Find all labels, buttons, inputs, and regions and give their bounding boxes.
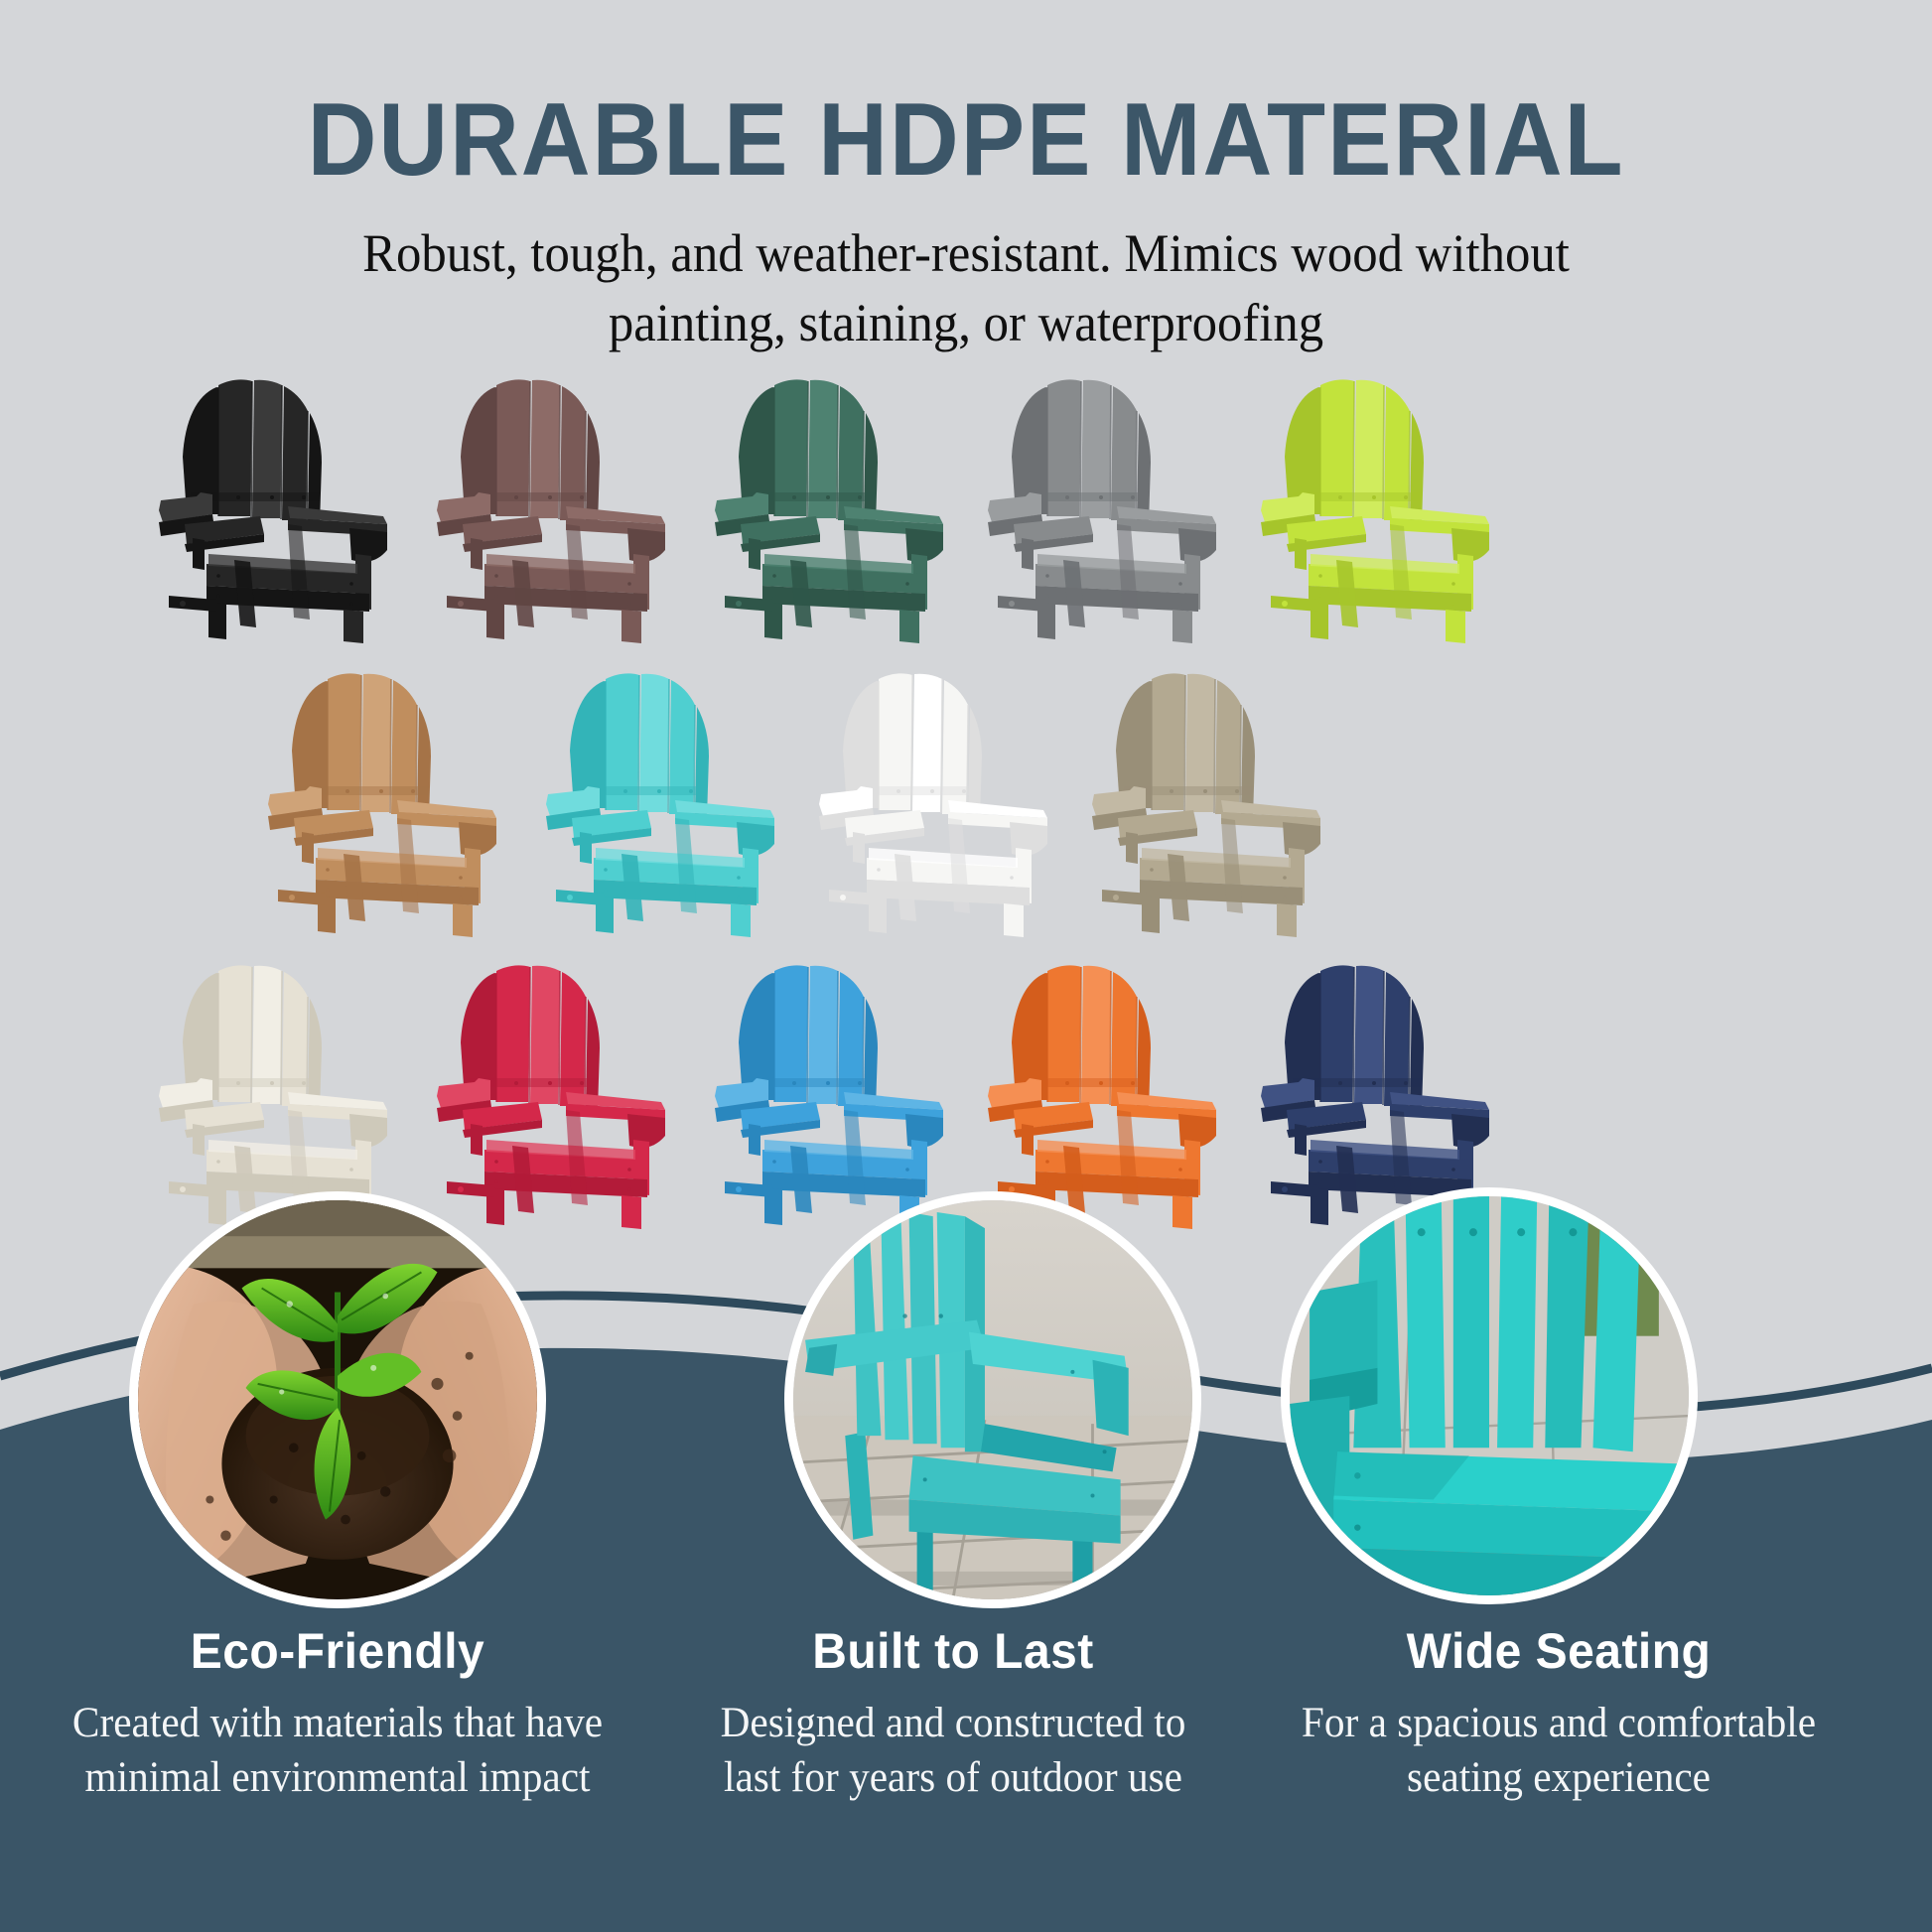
chair-swatch-red[interactable] — [417, 951, 715, 1229]
hands-holding-seedling-icon — [138, 1200, 537, 1599]
feature-heading-1: Eco-Friendly — [52, 1622, 623, 1680]
adirondack-chair-icon — [799, 659, 1097, 937]
feature-captions: Eco-Friendly Created with materials that… — [0, 1622, 1932, 1932]
chair-color-grid — [0, 365, 1932, 1259]
infographic-page: DURABLE HDPE MATERIAL Robust, tough, and… — [0, 0, 1932, 1932]
adirondack-chair-icon — [968, 365, 1266, 643]
feature-body-2-line-1: Designed and constructed to — [721, 1700, 1186, 1746]
adirondack-chair-icon — [526, 659, 824, 937]
adirondack-chair-icon — [968, 951, 1266, 1229]
chair-swatch-black[interactable] — [139, 365, 437, 643]
feature-heading-2: Built to Last — [667, 1622, 1239, 1680]
chair-swatch-khaki-taupe[interactable] — [1072, 659, 1370, 937]
chair-swatch-gray[interactable] — [968, 365, 1266, 643]
subtitle-line-1: Robust, tough, and weather-resistant. Mi… — [332, 218, 1600, 288]
adirondack-chair-icon — [1241, 365, 1539, 643]
page-subtitle: Robust, tough, and weather-resistant. Mi… — [332, 193, 1600, 357]
feature-body-2: Designed and constructed to last for yea… — [667, 1696, 1239, 1805]
chair-swatch-camel-tan[interactable] — [248, 659, 546, 937]
feature-caption-1: Eco-Friendly Created with materials that… — [40, 1622, 635, 1805]
feature-photo-1 — [129, 1191, 546, 1608]
chair-row-1 — [0, 365, 1932, 643]
chair-swatch-orange[interactable] — [968, 951, 1266, 1229]
feature-body-3-line-1: For a spacious and comfortable — [1302, 1700, 1816, 1746]
adirondack-chair-icon — [1072, 659, 1370, 937]
subtitle-line-2: painting, staining, or waterproofing — [332, 288, 1600, 357]
adirondack-chair-icon — [139, 951, 437, 1229]
chair-swatch-brown[interactable] — [417, 365, 715, 643]
feature-body-1: Created with materials that have minimal… — [52, 1696, 623, 1805]
feature-caption-2: Built to Last Designed and constructed t… — [655, 1622, 1251, 1805]
adirondack-chair-icon — [139, 365, 437, 643]
feature-body-3: For a spacious and comfortable seating e… — [1273, 1696, 1845, 1805]
adirondack-chair-icon — [248, 659, 546, 937]
turquoise-chair-seat-closeup-icon — [1290, 1196, 1689, 1595]
header: DURABLE HDPE MATERIAL Robust, tough, and… — [0, 0, 1932, 357]
feature-body-1-line-2: minimal environmental impact — [84, 1754, 590, 1801]
chair-swatch-lime-green[interactable] — [1241, 365, 1539, 643]
feature-heading-3: Wide Seating — [1273, 1622, 1845, 1680]
chair-row-3 — [0, 951, 1932, 1229]
turquoise-chair-patio-icon — [793, 1200, 1192, 1599]
adirondack-chair-icon — [695, 951, 993, 1229]
chair-swatch-dark-green[interactable] — [695, 365, 993, 643]
adirondack-chair-icon — [417, 365, 715, 643]
chair-swatch-ivory-cream[interactable] — [139, 951, 437, 1229]
feature-body-3-line-2: seating experience — [1407, 1754, 1711, 1801]
feature-body-2-line-2: last for years of outdoor use — [724, 1754, 1182, 1801]
chair-row-2 — [0, 659, 1932, 937]
feature-photo-2 — [784, 1191, 1201, 1608]
feature-body-1-line-1: Created with materials that have — [72, 1700, 603, 1746]
chair-swatch-white[interactable] — [799, 659, 1097, 937]
adirondack-chair-icon — [417, 951, 715, 1229]
chair-swatch-sky-blue[interactable] — [695, 951, 993, 1229]
feature-photo-3 — [1281, 1187, 1698, 1604]
chair-swatch-turquoise[interactable] — [526, 659, 824, 937]
feature-caption-3: Wide Seating For a spacious and comforta… — [1261, 1622, 1857, 1805]
adirondack-chair-icon — [695, 365, 993, 643]
page-title: DURABLE HDPE MATERIAL — [68, 0, 1864, 193]
